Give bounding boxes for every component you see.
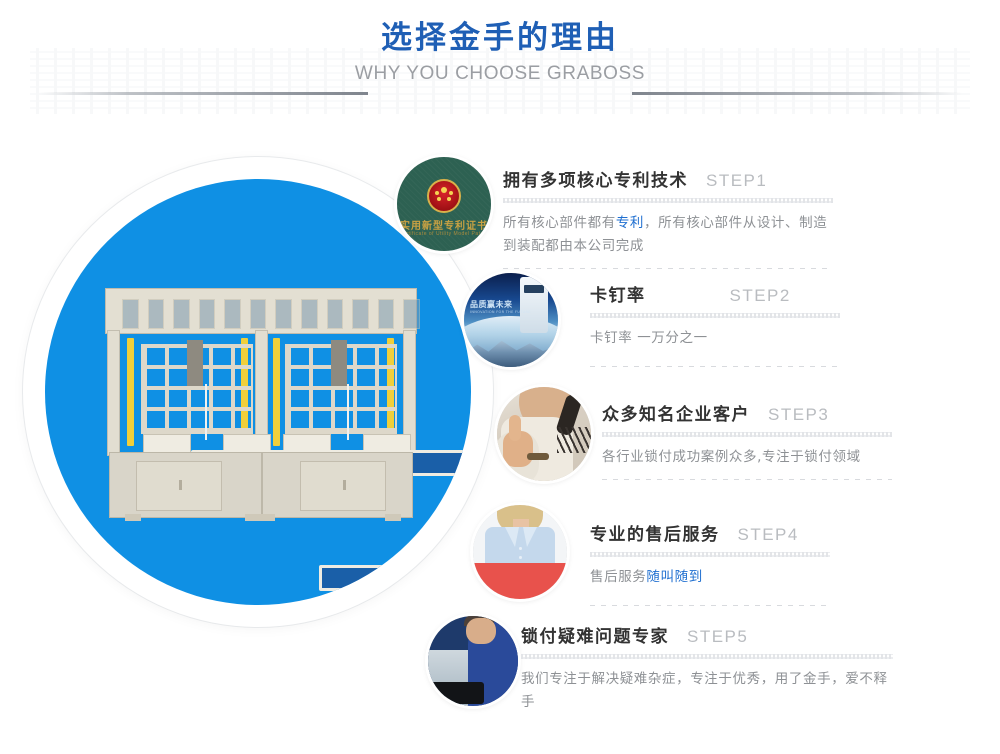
step-4-rule — [590, 552, 830, 557]
customer-service-woman-image — [473, 505, 567, 599]
step-3-number: STEP3 — [768, 405, 829, 425]
step-1-rule — [503, 198, 833, 203]
header-rule-left — [38, 92, 368, 95]
step-3-rule — [602, 432, 892, 437]
machine-light-curtain — [127, 338, 134, 446]
machine-cabinet-door — [300, 461, 386, 511]
step-1-desc-pre: 所有核心部件都有 — [503, 215, 616, 231]
technician-head — [466, 618, 496, 644]
step-5-heading: 锁付疑难问题专家 STEP5 — [521, 622, 893, 647]
step-3-description: 各行业锁付成功案例众多,专注于锁付领域 — [602, 446, 892, 469]
shirt-buttons — [519, 547, 522, 550]
promo-page: 选择金手的理由 WHY YOU CHOOSE GRABOSS — [0, 0, 1000, 754]
technology-earth-image: 品质赢未来INNOVATION FOR THE FUTURE — [464, 273, 558, 367]
step-5-rule — [521, 654, 893, 659]
step-5-thumbnail — [428, 616, 518, 706]
step-1-number: STEP1 — [706, 171, 767, 191]
technician-repair-image — [428, 616, 518, 706]
red-background-band — [473, 563, 567, 599]
step-3-heading: 众多知名企业客户 STEP3 — [602, 400, 892, 425]
step-2-title: 卡钉率 — [590, 281, 646, 306]
step-3-desc-pre: 各行业锁付成功案例众多,专注于锁付领域 — [602, 449, 861, 465]
step-5-title: 锁付疑难问题专家 — [521, 622, 669, 647]
machine-screw-head — [331, 340, 347, 386]
step-1-description: 所有核心部件都有专利，所有核心部件从设计、制造到装配都由本公司完成 — [503, 212, 833, 258]
step-4-number: STEP4 — [738, 525, 799, 545]
machine-light-curtain — [273, 338, 280, 446]
step-3-divider — [602, 479, 892, 480]
step-2-divider — [590, 366, 840, 367]
page-title: 选择金手的理由 — [0, 18, 1000, 58]
step-2-thumbnail: 品质赢未来INNOVATION FOR THE FUTURE — [464, 273, 558, 367]
step-2-description: 卡钉率 一万分之一 — [590, 327, 840, 350]
wrist-watch — [527, 453, 549, 460]
step-2-number: STEP2 — [730, 286, 791, 306]
machine-foot — [125, 514, 141, 521]
machine-hose — [205, 384, 207, 440]
step-4-title: 专业的售后服务 — [590, 520, 720, 545]
machine-illustration — [95, 284, 425, 524]
machine-hose — [347, 384, 349, 440]
step-4-desc-pre: 售后服务 — [590, 569, 646, 585]
step-2-rule — [590, 313, 840, 318]
step-5-desc-pre: 我们专注于解决疑难杂症，专注于优秀，用了金手，爱不释手 — [521, 671, 888, 710]
patent-certificate-image: 实用新型专利证书 Certificate of Utility Model Pa… — [397, 157, 491, 251]
page-header: 选择金手的理由 WHY YOU CHOOSE GRABOSS — [0, 18, 1000, 116]
step-5-number: STEP5 — [687, 627, 748, 647]
national-emblem-icon — [427, 179, 461, 213]
engine-parts — [430, 682, 484, 704]
machine-cabinet-door — [136, 461, 222, 511]
step-item-4: 专业的售后服务 STEP4 售后服务随叫随到 — [590, 520, 830, 606]
step-item-1: 拥有多项核心专利技术 STEP1 所有核心部件都有专利，所有核心部件从设计、制造… — [503, 166, 833, 269]
step-1-heading: 拥有多项核心专利技术 STEP1 — [503, 166, 833, 191]
step-4-divider — [590, 605, 830, 606]
step-item-2: 卡钉率 STEP2 卡钉率 一万分之一 — [590, 281, 840, 367]
step-3-thumbnail — [497, 387, 591, 481]
machine-cabinet — [109, 452, 413, 518]
page-subtitle: WHY YOU CHOOSE GRABOSS — [0, 60, 1000, 88]
telephone-cord — [557, 427, 591, 453]
step-1-thumbnail: 实用新型专利证书 Certificate of Utility Model Pa… — [397, 157, 491, 251]
machine-hmi-screen — [319, 565, 471, 591]
step-item-3: 众多知名企业客户 STEP3 各行业锁付成功案例众多,专注于锁付领域 — [602, 400, 892, 480]
header-titles: 选择金手的理由 WHY YOU CHOOSE GRABOSS — [0, 18, 1000, 88]
machine-column-left — [107, 330, 120, 456]
machine-foot — [385, 514, 401, 521]
machine-foot — [259, 514, 275, 521]
thumbs-up-phone-image — [497, 387, 591, 481]
step-4-thumbnail — [473, 505, 567, 599]
step-item-5: 锁付疑难问题专家 STEP5 我们专注于解决疑难杂症，专注于优秀，用了金手，爱不… — [521, 622, 893, 714]
machine-slots — [122, 299, 420, 329]
thumb-caption: 品质赢未来INNOVATION FOR THE FUTURE — [470, 299, 531, 314]
certificate-title-cn: 实用新型专利证书 — [397, 217, 491, 232]
step-5-description: 我们专注于解决疑难杂症，专注于优秀，用了金手，爱不释手 — [521, 668, 893, 714]
step-1-desc-highlight: 专利 — [616, 215, 644, 231]
step-1-divider — [503, 268, 833, 269]
step-3-title: 众多知名企业客户 — [602, 400, 750, 425]
step-4-description: 售后服务随叫随到 — [590, 566, 830, 589]
step-2-heading: 卡钉率 STEP2 — [590, 281, 840, 306]
header-rule-right — [632, 92, 962, 95]
machine-top-frame — [105, 288, 417, 334]
step-1-title: 拥有多项核心专利技术 — [503, 166, 688, 191]
step-4-heading: 专业的售后服务 STEP4 — [590, 520, 830, 545]
step-4-desc-highlight: 随叫随到 — [646, 569, 702, 585]
certificate-title-en: Certificate of Utility Model Patent — [397, 231, 491, 237]
thumb-finger — [509, 415, 521, 441]
machine-screw-head — [187, 340, 203, 386]
step-2-desc-pre: 卡钉率 一万分之一 — [590, 330, 708, 346]
shirt-collar-right — [523, 527, 537, 547]
shirt-collar-left — [505, 527, 519, 547]
